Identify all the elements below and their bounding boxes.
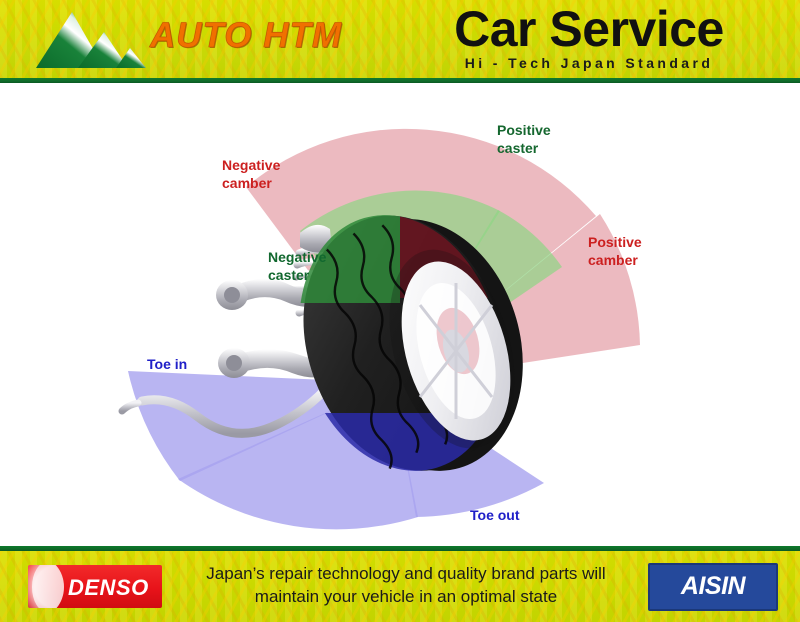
label-negative-caster: Negative caster (268, 248, 326, 284)
label-toe-in: Toe in (147, 355, 187, 373)
denso-logo: DENSO (28, 565, 162, 608)
footer-tagline-line2: maintain your vehicle in an optimal stat… (174, 585, 638, 608)
label-positive-camber: Positive camber (588, 233, 642, 269)
page-subtitle: Hi - Tech Japan Standard (404, 55, 774, 71)
poster: AUTO HTM Car Service Hi - Tech Japan Sta… (0, 0, 800, 622)
auto-htm-logo-icon (34, 6, 146, 72)
wheel-alignment-diagram (0, 83, 800, 546)
aisin-logo: AISIN (648, 563, 778, 611)
brand-name: AUTO HTM (150, 16, 342, 56)
label-toe-out: Toe out (470, 506, 520, 524)
diagram-area: Negative camber Positive caster Positive… (0, 83, 800, 546)
denso-logo-text: DENSO (68, 575, 149, 601)
aisin-logo-text: AISIN (650, 572, 776, 601)
header-banner: AUTO HTM Car Service Hi - Tech Japan Sta… (0, 0, 800, 78)
header-title-block: Car Service Hi - Tech Japan Standard (404, 2, 774, 71)
label-negative-camber: Negative camber (222, 156, 280, 192)
footer-tagline: Japan’s repair technology and quality br… (174, 562, 638, 608)
footer-tagline-line1: Japan’s repair technology and quality br… (174, 562, 638, 585)
denso-swoosh-accent-icon (32, 565, 62, 608)
label-positive-caster: Positive caster (497, 121, 551, 157)
page-title: Car Service (404, 2, 774, 56)
